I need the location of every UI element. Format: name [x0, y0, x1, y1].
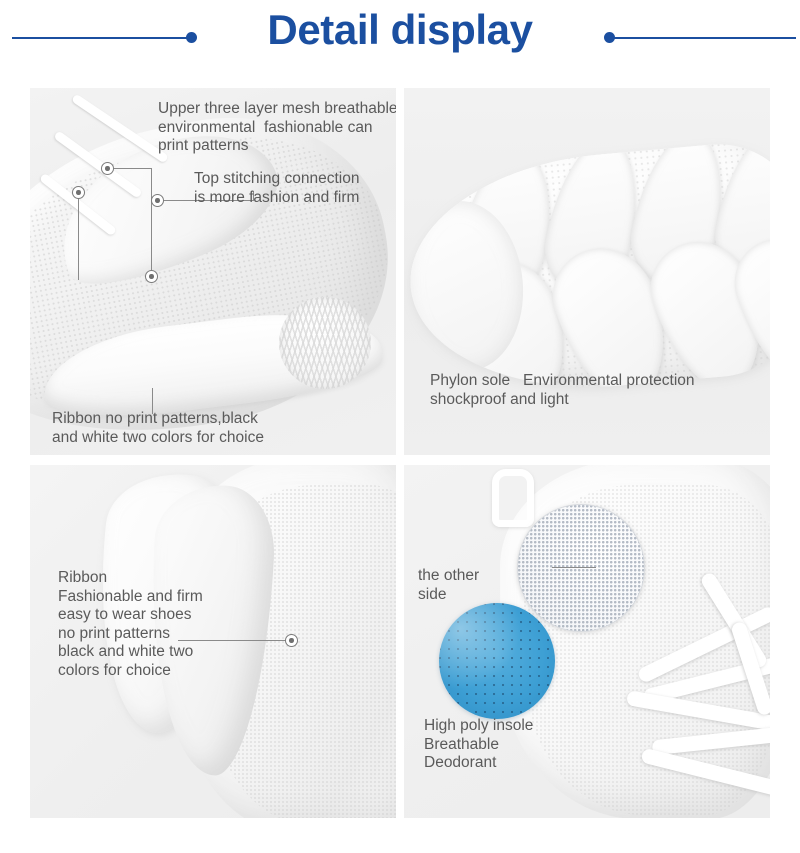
stitching-texture-circle — [279, 297, 371, 389]
callout-marker-ribbon[interactable] — [285, 634, 298, 647]
other-side-text: the other side — [418, 567, 479, 604]
panel-insole: the other side High poly insole Breathab… — [404, 465, 770, 818]
decorative-rule-right — [610, 37, 796, 39]
top-stitching-text: Top stitching connection is more fashion… — [194, 170, 359, 207]
callout-marker-3[interactable] — [145, 270, 158, 283]
high-poly-insole-text: High poly insole Breathable Deodorant — [424, 717, 533, 773]
page-header: Detail display — [0, 0, 800, 78]
callout-marker-2[interactable] — [72, 186, 85, 199]
detail-panel-grid: Upper three layer mesh breathable enviro… — [30, 88, 770, 818]
lead-line — [552, 567, 596, 568]
lead-line — [151, 168, 152, 276]
lead-line — [78, 192, 79, 280]
upper-mesh-text: Upper three layer mesh breathable enviro… — [158, 100, 396, 156]
panel-phylon-sole: Phylon sole Environmental protection sho… — [404, 88, 770, 455]
callout-marker-4[interactable] — [151, 194, 164, 207]
panel-upper-mesh: Upper three layer mesh breathable enviro… — [30, 88, 396, 455]
lead-line — [108, 168, 152, 169]
ribbon-text: Ribbon no print patterns,black and white… — [52, 410, 264, 447]
callout-marker-1[interactable] — [101, 162, 114, 175]
blue-insole-circle — [439, 603, 555, 719]
phylon-sole-text: Phylon sole Environmental protection sho… — [430, 372, 695, 409]
panel-ribbon-collar: Ribbon Fashionable and firm easy to wear… — [30, 465, 396, 818]
ribbon-detail-text: Ribbon Fashionable and firm easy to wear… — [58, 569, 203, 680]
page-title: Detail display — [0, 6, 800, 54]
